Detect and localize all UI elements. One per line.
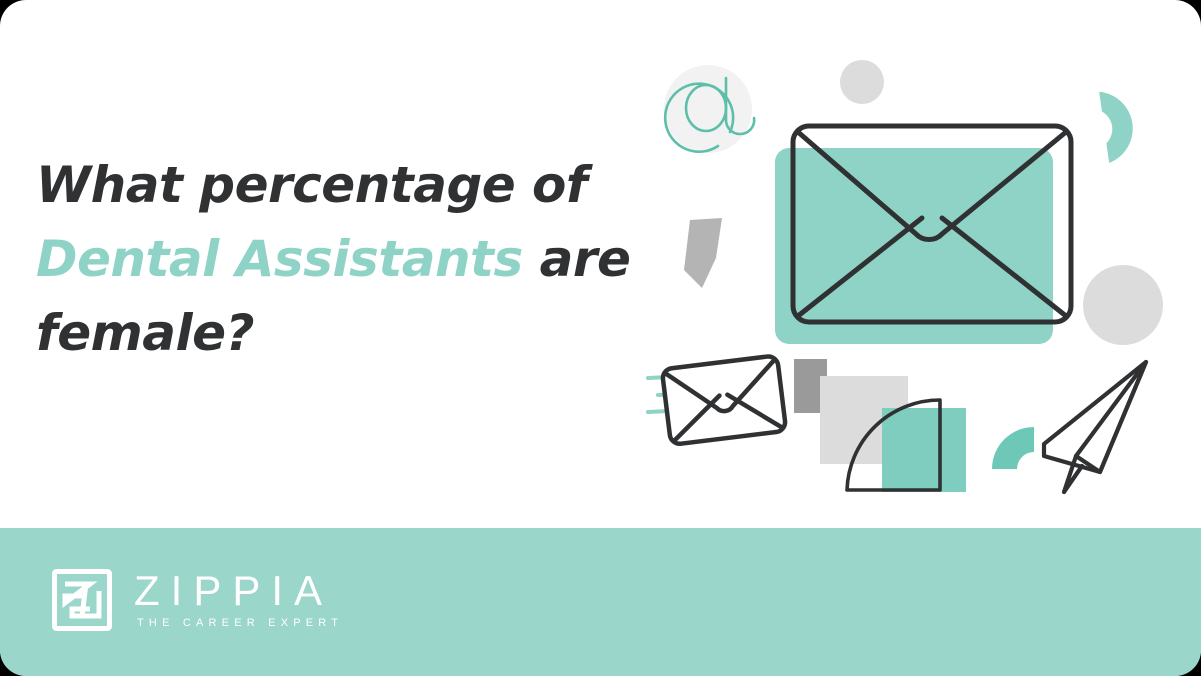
email-illustration — [630, 20, 1190, 510]
envelope-small-icon — [662, 355, 786, 445]
headline-line-2-tail: are — [523, 230, 631, 288]
envelope-large-icon — [793, 126, 1071, 322]
crescent-teal-icon — [1099, 88, 1137, 163]
arrow-wedge-gray-icon — [684, 218, 722, 288]
headline-line-3: female? — [36, 304, 254, 362]
headline-line-1: What percentage of — [36, 156, 587, 214]
circle-large-gray-icon — [1083, 265, 1163, 345]
promo-card: What percentage of Dental Assistants are… — [0, 0, 1201, 676]
circle-small-gray-icon — [840, 60, 884, 104]
zippia-logo[interactable]: ZIPPIA THE CAREER EXPERT — [52, 569, 343, 631]
at-symbol-shadow-circle — [664, 65, 752, 153]
zippia-tagline: THE CAREER EXPERT — [137, 615, 343, 631]
headline-job-title: Dental Assistants — [36, 230, 523, 288]
square-teal-icon — [882, 408, 966, 492]
zippia-wordmark: ZIPPIA — [134, 569, 343, 613]
paper-plane-icon — [1044, 362, 1146, 492]
page-title: What percentage of Dental Assistants are… — [36, 148, 636, 370]
zippia-z-mark-icon — [52, 569, 112, 631]
zippia-logo-text: ZIPPIA THE CAREER EXPERT — [134, 569, 343, 631]
elbow-arc-teal-icon — [992, 427, 1034, 469]
